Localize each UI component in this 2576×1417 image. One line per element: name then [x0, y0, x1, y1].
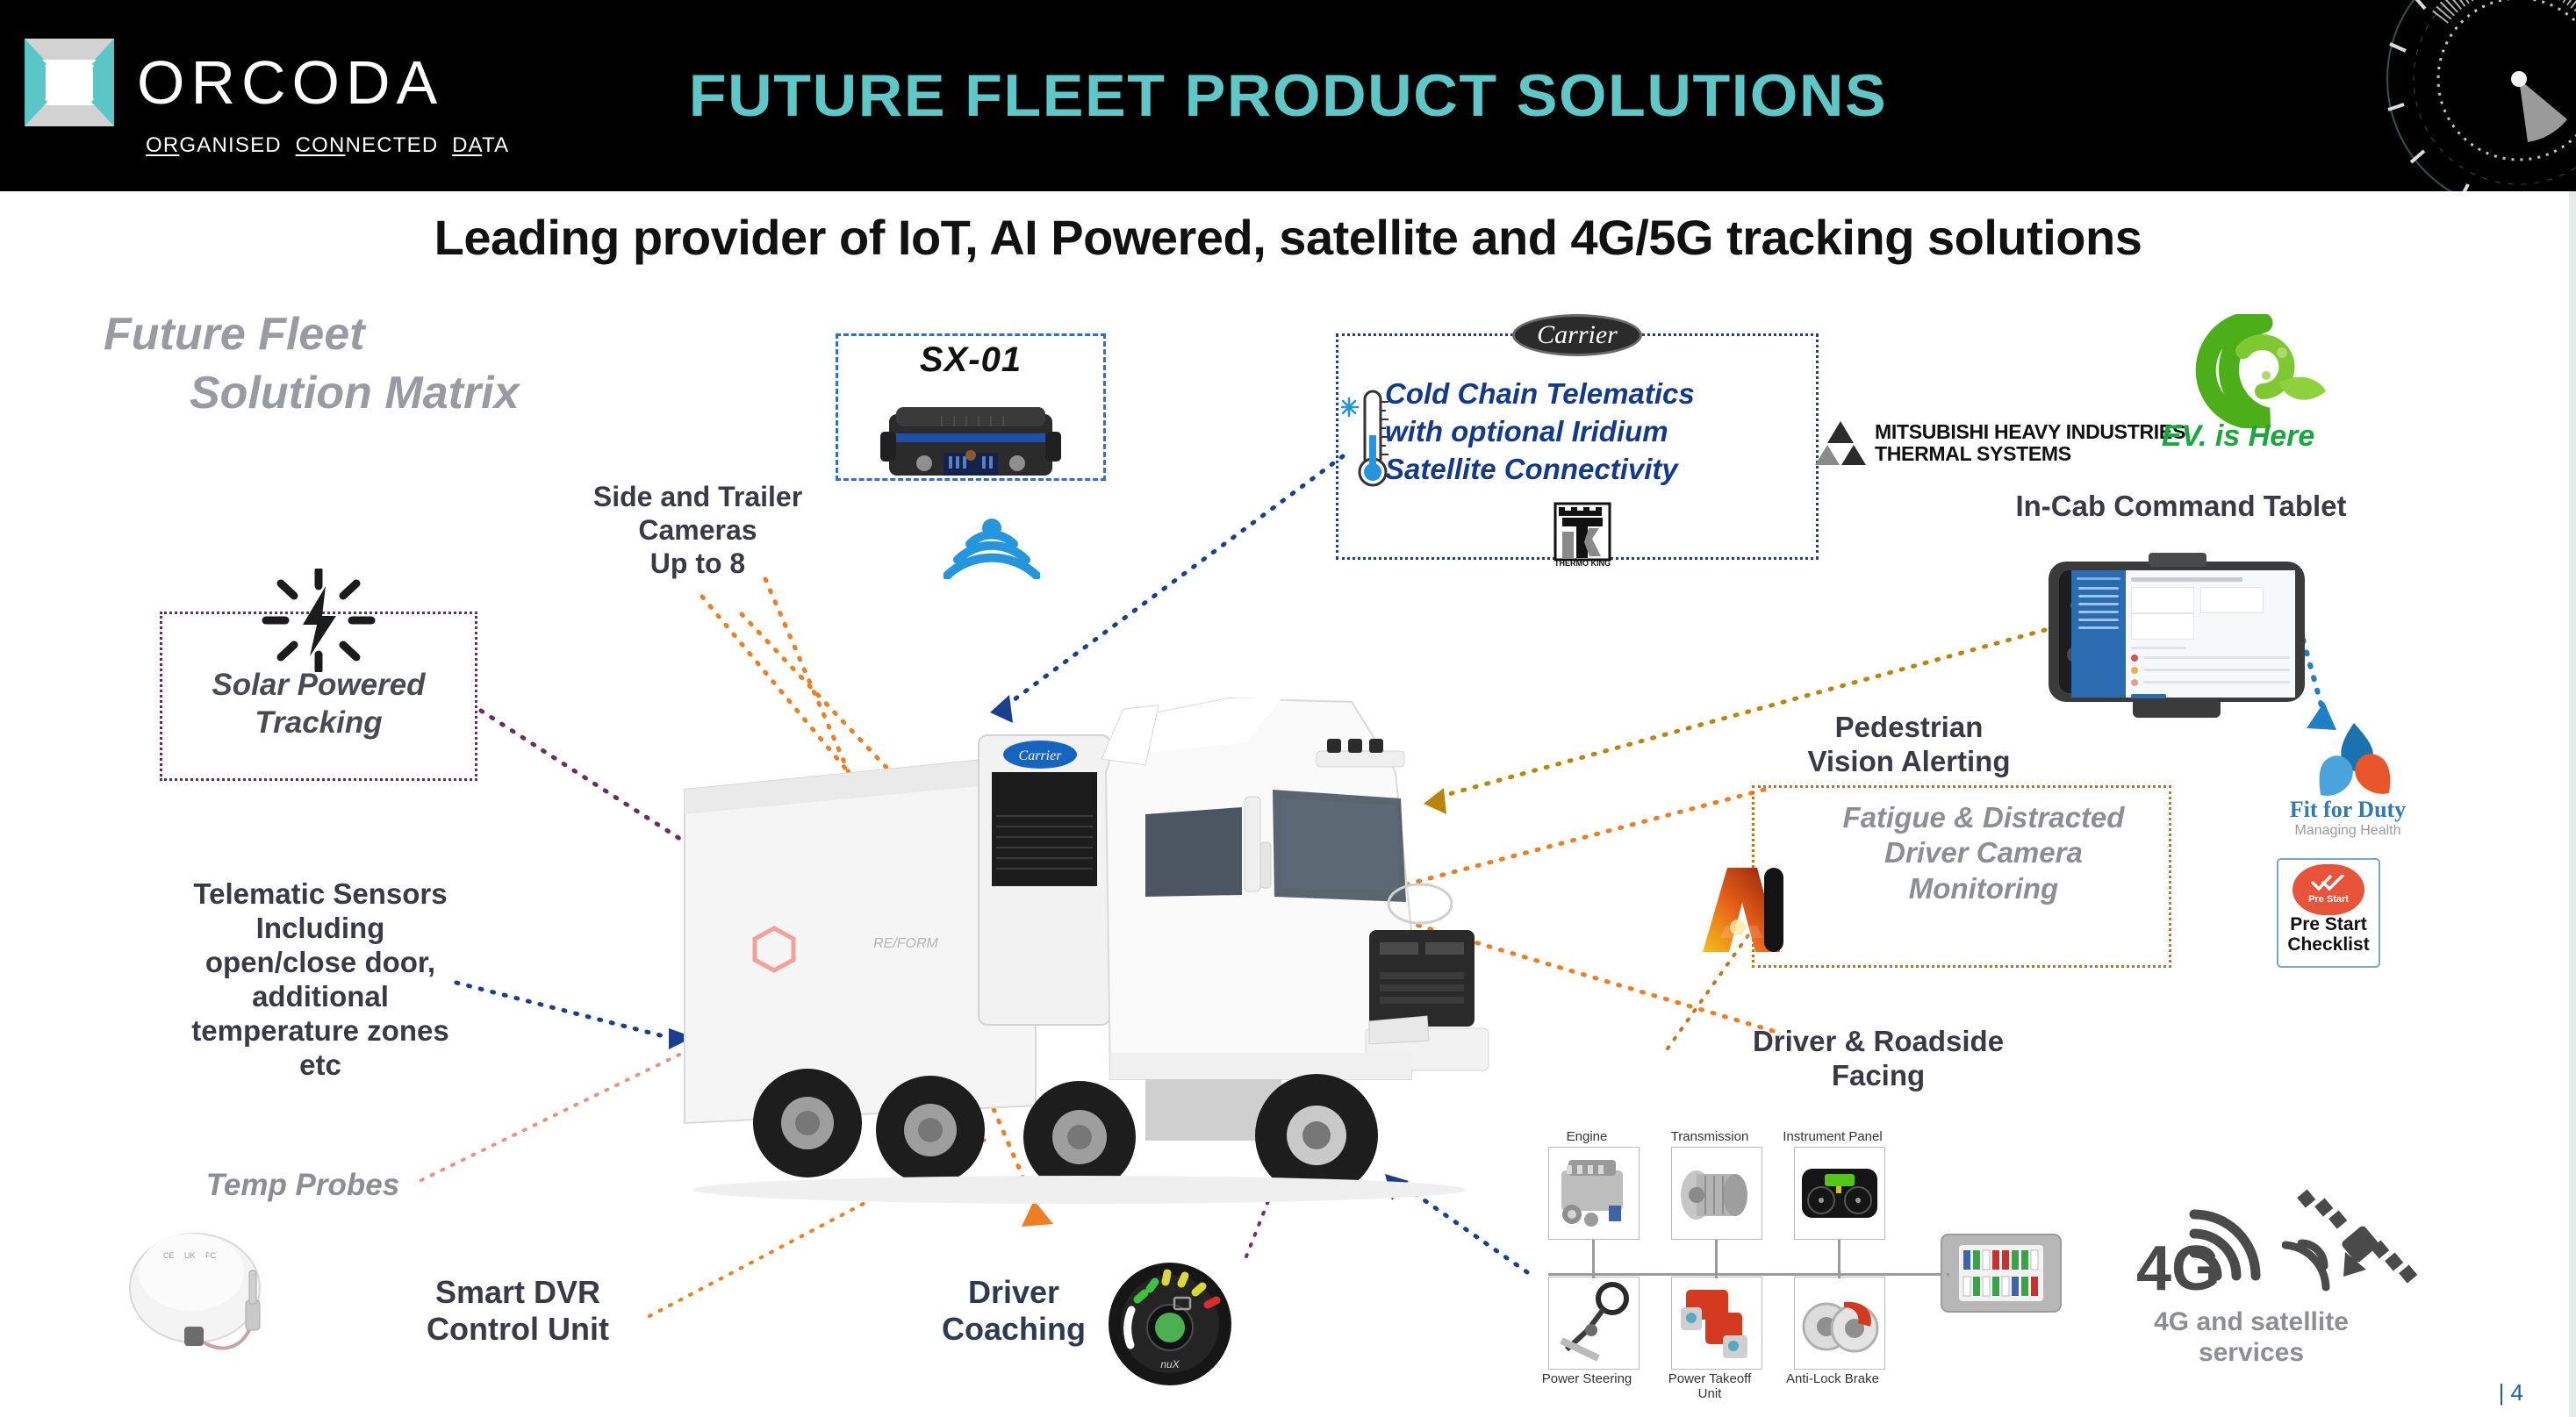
carrier-logo: Carrier [1512, 314, 1642, 356]
three-droplet-icon [2308, 719, 2400, 803]
pedestrian-vision-label: Pedestrian Vision Alerting [1751, 711, 2067, 779]
ai-logo-icon [1694, 864, 1790, 956]
connectivity-label: 4G and satellite services [2106, 1307, 2396, 1368]
temp-probes-label: Temp Probes [158, 1167, 448, 1205]
pre-start-badge-text: Pre Start [2308, 894, 2349, 905]
sx01-label: SX-01 [836, 340, 1106, 380]
fit-for-duty-title: Fit for Duty [2247, 797, 2449, 823]
matrix-title-line2: Solution Matrix [104, 364, 520, 423]
driver-coaching-label: Driver Coaching [886, 1274, 1141, 1349]
4g-signal-icon: 4G [2133, 1202, 2273, 1303]
thermometer-snowflake-icon [1341, 386, 1390, 491]
ecu-caption-pto: Power Takeoff Unit [1657, 1371, 1762, 1401]
svg-text:FC: FC [205, 1251, 216, 1260]
telematic-sensors-label: Telematic Sensors Including open/close d… [158, 877, 483, 1083]
satellite-icon [2282, 1189, 2427, 1303]
svg-text:CE: CE [163, 1251, 175, 1260]
driver-coaching-puck-icon: nuX [1104, 1259, 1236, 1391]
tablet-dashboard [2126, 570, 2295, 698]
svg-text:4G: 4G [2136, 1234, 2221, 1303]
ecu-caption-engine: Engine [1534, 1129, 1640, 1144]
truck-illustration: Carrier RE/FORM [667, 667, 1527, 1211]
double-check-icon [2311, 875, 2346, 892]
ecu-cell-engine [1548, 1147, 1640, 1240]
ecu-cell-pto [1671, 1277, 1762, 1370]
mitsubishi-mark-icon [1815, 419, 1866, 467]
ev-leaf-icon [2175, 314, 2333, 428]
cold-chain-text: Cold Chain Telematics with optional Irid… [1385, 376, 1754, 489]
svg-text:UK: UK [184, 1251, 196, 1260]
svg-text:Carrier: Carrier [1019, 748, 1063, 763]
svg-text:RE/FORM: RE/FORM [873, 936, 938, 951]
tablet-card [2131, 587, 2194, 613]
fit-for-duty-subtitle: Managing Health [2247, 823, 2449, 839]
thermo-king-caption: THERMO KING [1553, 559, 1611, 568]
brand-tagline: ORGANISED CONNECTED DATA [146, 133, 509, 158]
wifi-signal-icon [944, 518, 1040, 579]
telematics-device-icon [880, 402, 1061, 486]
brand-logo[interactable]: ORCODA ORGANISED CONNECTED DATA [16, 33, 509, 158]
driver-roadside-label: Driver & Roadside Facing [1720, 1025, 2036, 1093]
ecu-caption-transmission: Transmission [1657, 1129, 1762, 1144]
orcoda-mark-icon [16, 33, 123, 132]
solar-powered-tracking-label: Solar Powered Tracking [160, 667, 477, 741]
solution-matrix-title: Future Fleet Solution Matrix [104, 305, 520, 422]
pre-start-badge: Pre Start [2293, 864, 2364, 915]
ecu-caption-instrument: Instrument Panel [1780, 1129, 1885, 1144]
ecu-cell-instrument-panel [1794, 1147, 1885, 1240]
smart-dvr-label: Smart DVR Control Unit [386, 1274, 649, 1349]
svg-text:nuX: nuX [1160, 1358, 1180, 1370]
ecu-cell-abs [1794, 1277, 1885, 1370]
ecu-cell-power-steering [1548, 1277, 1640, 1370]
slide-canvas: ORCODA ORGANISED CONNECTED DATA FUTURE F… [0, 0, 2576, 1417]
fatigue-monitoring-label: Fatigue & Distracted Driver Camera Monit… [1808, 800, 2159, 906]
logo-row: ORCODA [16, 33, 443, 132]
subtitle: Leading provider of IoT, AI Powered, sat… [0, 209, 2576, 266]
tablet-card [2131, 613, 2194, 640]
brand-wordmark: ORCODA [137, 52, 443, 113]
temperature-probe-icon: CEUKFC [123, 1220, 325, 1360]
matrix-title-line1: Future Fleet [104, 309, 365, 360]
page-number: | 4 [2499, 1379, 2523, 1406]
solar-flash-icon [259, 569, 378, 672]
ecu-caption-abs: Anti-Lock Brake [1780, 1371, 1885, 1386]
speedometer-icon [2330, 0, 2576, 191]
ecu-connector-icon [1940, 1231, 2063, 1315]
in-cab-tablet-label: In-Cab Command Tablet [1992, 490, 2370, 524]
ecu-network-diagram: Engine Transmission Instrument Panel [1527, 1101, 2063, 1391]
side-trailer-cameras-label: Side and Trailer Cameras Up to 8 [553, 481, 843, 580]
ev-label: EV. is Here [2124, 419, 2352, 454]
thermo-king-logo [1553, 502, 1611, 568]
tablet-nav-panel [2071, 570, 2126, 698]
tablet-card [2200, 587, 2264, 613]
right-edge-rule [2569, 191, 2576, 1417]
ecu-cell-transmission [1671, 1147, 1762, 1240]
tablet-screen[interactable] [2071, 570, 2295, 698]
pre-start-label: Pre Start Checklist [2277, 914, 2380, 955]
ecu-caption-power-steering: Power Steering [1534, 1371, 1640, 1386]
header-bar: ORCODA ORGANISED CONNECTED DATA FUTURE F… [0, 0, 2576, 191]
